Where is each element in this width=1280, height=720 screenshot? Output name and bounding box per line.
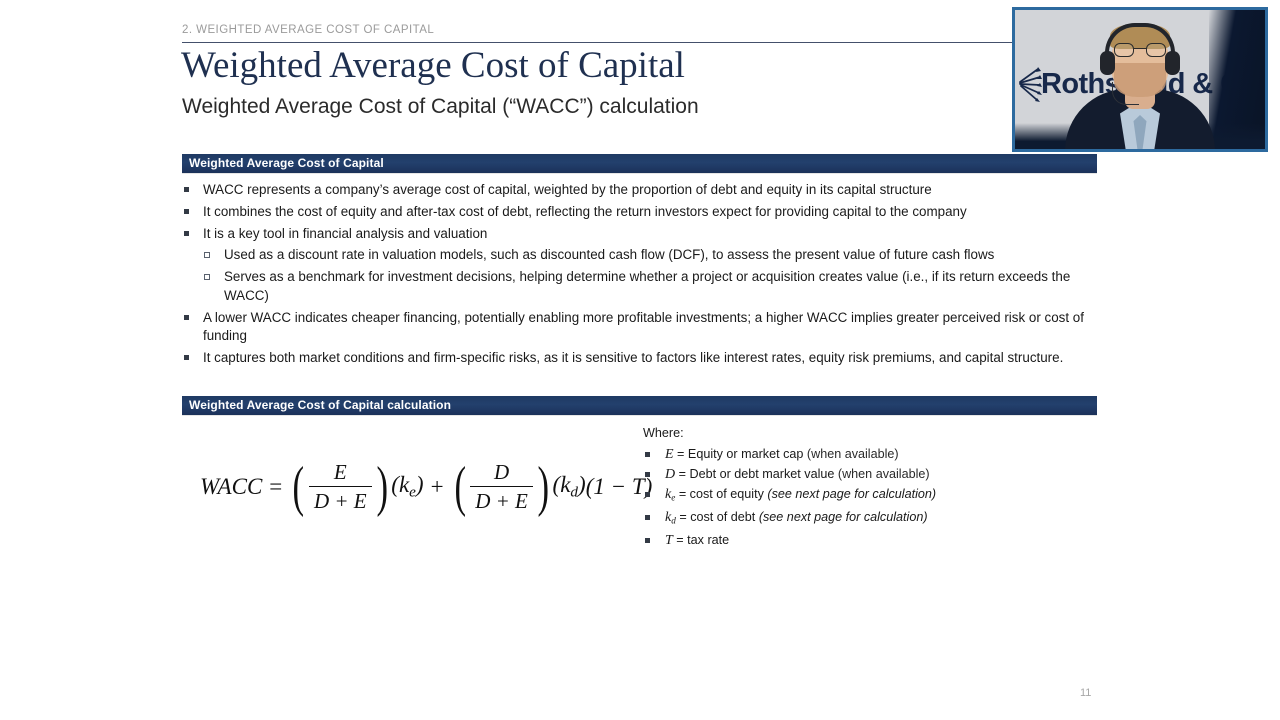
bullet-square-icon bbox=[184, 355, 189, 360]
list-item: It captures both market conditions and f… bbox=[182, 349, 1098, 368]
section-header-calculation: Weighted Average Cost of Capital calcula… bbox=[182, 396, 1097, 415]
legend-definition: = Debt or debt market value bbox=[675, 467, 838, 481]
formula-term1-factor-sub: e bbox=[409, 484, 416, 501]
overview-bullet-list: WACC represents a company’s average cost… bbox=[182, 181, 1098, 371]
headset-mic-boom-icon bbox=[1112, 82, 1139, 105]
list-item-text: It combines the cost of equity and after… bbox=[203, 203, 1098, 222]
legend-item: D = Debt or debt market value (when avai… bbox=[643, 465, 1063, 485]
formula-term1-denominator: D + E bbox=[309, 486, 372, 514]
formula-legend-title: Where: bbox=[643, 426, 1063, 440]
formula-term2-factor-sub: d bbox=[570, 484, 578, 501]
legend-note: (when available) bbox=[807, 447, 899, 461]
formula-term2-fraction: D D + E bbox=[470, 460, 533, 514]
list-item: A lower WACC indicates cheaper financing… bbox=[182, 309, 1098, 346]
legend-definition: = tax rate bbox=[673, 533, 729, 547]
legend-item: E = Equity or market cap (when available… bbox=[643, 445, 1063, 465]
formula-plus: + bbox=[431, 474, 444, 500]
title-divider bbox=[182, 42, 1014, 43]
list-item-text: WACC represents a company’s average cost… bbox=[203, 181, 1098, 200]
paren-close-icon: ) bbox=[537, 467, 549, 507]
bullet-square-icon bbox=[645, 492, 650, 497]
list-item: Serves as a benchmark for investment dec… bbox=[182, 268, 1098, 305]
legend-definition: = Equity or market cap bbox=[674, 447, 807, 461]
rothschild-arrows-logo-icon bbox=[1016, 66, 1042, 102]
legend-note: (see next page for calculation) bbox=[767, 487, 936, 501]
list-item: It is a key tool in financial analysis a… bbox=[182, 225, 1098, 244]
legend-symbol: kd bbox=[665, 510, 676, 525]
section-header-overview: Weighted Average Cost of Capital bbox=[182, 154, 1097, 173]
formula-lhs: WACC bbox=[200, 474, 262, 500]
formula-term1-factor: (ke) bbox=[391, 472, 423, 501]
legend-item: ke = cost of equity (see next page for c… bbox=[643, 485, 1063, 508]
list-item: WACC represents a company’s average cost… bbox=[182, 181, 1098, 200]
bullet-hollow-square-icon bbox=[204, 274, 210, 280]
headphone-earcup-right-icon bbox=[1165, 51, 1180, 75]
legend-item: T = tax rate bbox=[643, 531, 1063, 551]
glasses-lens-left bbox=[1114, 43, 1134, 57]
list-item-text: A lower WACC indicates cheaper financing… bbox=[203, 309, 1098, 346]
video-feed: Rothschild & Co bbox=[1015, 10, 1265, 149]
bullet-square-icon bbox=[184, 231, 189, 236]
glasses-bridge bbox=[1134, 48, 1146, 49]
formula-term2-factor-base: k bbox=[560, 472, 570, 497]
legend-symbol: T bbox=[665, 533, 673, 548]
bullet-square-icon bbox=[184, 209, 189, 214]
formula-equals: = bbox=[269, 474, 282, 500]
list-item-text: It captures both market conditions and f… bbox=[203, 349, 1098, 368]
formula-term2-factor: (kd) bbox=[553, 472, 586, 501]
glasses-icon bbox=[1114, 43, 1166, 57]
legend-symbol: D bbox=[665, 467, 675, 482]
legend-symbol: E bbox=[665, 447, 674, 462]
section-header-overview-label: Weighted Average Cost of Capital bbox=[189, 156, 384, 170]
bullet-square-icon bbox=[645, 538, 650, 543]
paren-open-icon: ( bbox=[454, 467, 466, 507]
section-header-calculation-label: Weighted Average Cost of Capital calcula… bbox=[189, 398, 451, 412]
page-number: 11 bbox=[1080, 687, 1091, 699]
presenter-video-tile[interactable]: Rothschild & Co bbox=[1012, 7, 1268, 152]
legend-note: (see next page for calculation) bbox=[759, 510, 928, 524]
paren-open-icon: ( bbox=[293, 467, 305, 507]
formula-term2-numerator: D bbox=[488, 460, 515, 486]
bullet-square-icon bbox=[645, 515, 650, 520]
glasses-lens-right bbox=[1146, 43, 1166, 57]
legend-symbol: ke bbox=[665, 487, 675, 502]
formula-term1-factor-base: k bbox=[399, 472, 409, 497]
formula-legend: Where: E = Equity or market cap (when av… bbox=[643, 426, 1063, 551]
bullet-square-icon bbox=[645, 452, 650, 457]
formula-term2-denominator: D + E bbox=[470, 486, 533, 514]
legend-definition: = cost of equity bbox=[675, 487, 767, 501]
paren-close-icon: ) bbox=[376, 467, 388, 507]
headphone-earcup-left-icon bbox=[1100, 51, 1115, 75]
legend-item: kd = cost of debt (see next page for cal… bbox=[643, 508, 1063, 531]
legend-definition: = cost of debt bbox=[676, 510, 759, 524]
list-item: It combines the cost of equity and after… bbox=[182, 203, 1098, 222]
wacc-formula: WACC = ( E D + E ) (ke) + ( D D + E ) (k… bbox=[200, 452, 620, 522]
list-item-text: Used as a discount rate in valuation mod… bbox=[224, 246, 1098, 265]
bullet-hollow-square-icon bbox=[204, 252, 210, 258]
legend-note: (when available) bbox=[838, 467, 930, 481]
formula-term1-numerator: E bbox=[328, 460, 353, 486]
slide-eyebrow: 2. WEIGHTED AVERAGE COST OF CAPITAL bbox=[182, 24, 434, 36]
list-item-text: It is a key tool in financial analysis a… bbox=[203, 225, 1098, 244]
list-item-text: Serves as a benchmark for investment dec… bbox=[224, 268, 1098, 305]
list-item: Used as a discount rate in valuation mod… bbox=[182, 246, 1098, 265]
bullet-square-icon bbox=[645, 472, 650, 477]
bullet-square-icon bbox=[184, 315, 189, 320]
bullet-square-icon bbox=[184, 187, 189, 192]
page-subtitle: Weighted Average Cost of Capital (“WACC”… bbox=[182, 93, 699, 120]
page-title: Weighted Average Cost of Capital bbox=[181, 44, 685, 88]
formula-term1-fraction: E D + E bbox=[309, 460, 372, 514]
